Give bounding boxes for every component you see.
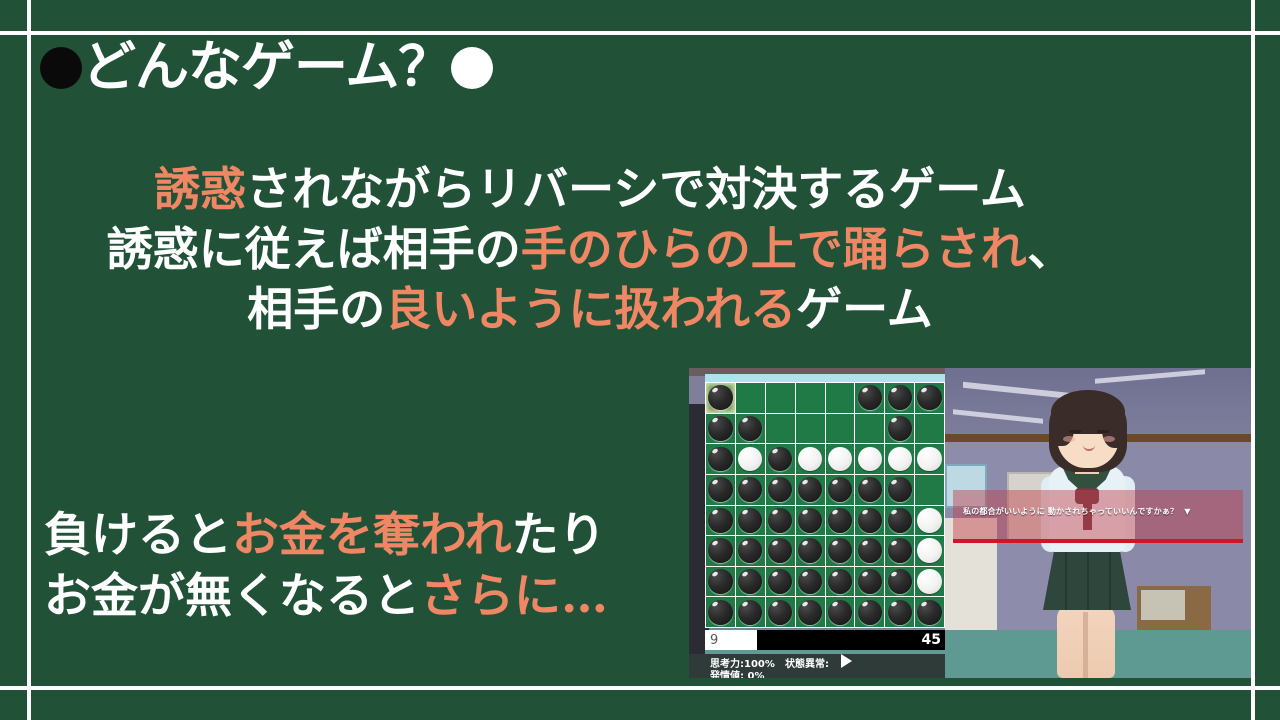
board-cell[interactable]	[706, 414, 735, 444]
black-disc	[708, 508, 732, 533]
character-leg-gap	[1083, 612, 1088, 678]
frame-line-bottom	[0, 686, 1280, 690]
disc-glint	[741, 540, 748, 547]
disc-glint	[771, 601, 778, 608]
main-line1-highlight: 誘惑	[154, 162, 246, 216]
character-blush-left	[1063, 436, 1075, 442]
penalty-line1-highlight: お金を奪われ	[232, 508, 512, 563]
black-disc	[828, 538, 852, 563]
disc-glint	[861, 540, 868, 547]
page-title: どんなゲーム？	[40, 38, 493, 95]
board-cell[interactable]	[885, 567, 914, 597]
board-cell[interactable]	[855, 536, 884, 566]
black-disc	[858, 538, 882, 563]
black-disc	[858, 600, 882, 625]
board-cell[interactable]	[766, 475, 795, 505]
penalty-line-2: お金が無くなるとさらに…	[44, 566, 608, 627]
disc-glint	[801, 478, 808, 485]
black-disc	[768, 538, 792, 563]
board-cell[interactable]	[826, 536, 855, 566]
black-disc	[858, 477, 882, 502]
disc-glint	[801, 601, 808, 608]
board-cell[interactable]	[826, 383, 855, 413]
board-cell[interactable]	[885, 536, 914, 566]
board-cell[interactable]	[706, 506, 735, 536]
main-line3-tail: ゲーム	[796, 282, 933, 336]
black-disc	[798, 600, 822, 625]
dialogue-advance-arrow-icon[interactable]: ▼	[1184, 507, 1190, 516]
disc-glint	[801, 540, 808, 547]
penalty-description: 負けるとお金を奪われたり お金が無くなるとさらに…	[44, 505, 608, 627]
character-eye-left	[1069, 430, 1081, 433]
main-line2-head: 誘惑に従えば相手の	[107, 222, 521, 276]
board-cell[interactable]	[885, 444, 914, 474]
disc-glint	[771, 478, 778, 485]
board-cell[interactable]	[766, 414, 795, 444]
board-cell[interactable]	[736, 567, 765, 597]
white-disc	[917, 447, 941, 472]
board-cell[interactable]	[915, 567, 944, 597]
dialogue-underline	[953, 539, 1243, 543]
disc-glint	[741, 601, 748, 608]
black-disc	[708, 385, 732, 410]
white-disc	[858, 447, 882, 472]
board-cell[interactable]	[766, 383, 795, 413]
black-disc	[708, 416, 732, 441]
main-line3-highlight: 良いように扱われる	[385, 282, 796, 336]
visual-novel-scene: 私の都合がいいように 動かされちゃっていいんですかぁ？▼	[945, 368, 1251, 678]
black-disc	[888, 600, 912, 625]
black-disc	[768, 600, 792, 625]
board-cell[interactable]	[855, 597, 884, 627]
board-cell[interactable]	[766, 506, 795, 536]
main-description: 誘惑されながらリバーシで対決するゲーム 誘惑に従えば相手の手のひらの上で踊らされ…	[0, 160, 1180, 339]
disc-glint	[891, 478, 898, 485]
black-disc	[888, 569, 912, 594]
black-disc	[888, 477, 912, 502]
disc-glint	[712, 540, 719, 547]
black-disc	[888, 385, 912, 410]
black-disc	[858, 508, 882, 533]
board-cell[interactable]	[796, 506, 825, 536]
black-disc	[738, 538, 762, 563]
character-eyebrow-right	[1097, 423, 1109, 425]
character-skirt-pleat	[1109, 544, 1111, 610]
disc-glint	[891, 387, 898, 394]
black-disc	[738, 569, 762, 594]
board-cell[interactable]	[915, 597, 944, 627]
board-cell[interactable]	[796, 597, 825, 627]
white-circle-icon	[451, 47, 493, 89]
disc-glint	[741, 417, 748, 424]
board-cell[interactable]	[736, 444, 765, 474]
board-cell[interactable]	[766, 567, 795, 597]
board-cell[interactable]	[826, 475, 855, 505]
board-cell[interactable]	[706, 597, 735, 627]
board-panel: 9 45 思考力:100% 発情値: 0% 状態異常:	[689, 368, 945, 678]
slide-root: どんなゲーム？ 誘惑されながらリバーシで対決するゲーム 誘惑に従えば相手の手のひ…	[0, 0, 1280, 720]
black-disc	[738, 600, 762, 625]
board-cell[interactable]	[706, 444, 735, 474]
black-disc	[828, 477, 852, 502]
black-disc	[828, 569, 852, 594]
disc-glint	[712, 387, 719, 394]
character-eye-right	[1097, 430, 1109, 433]
dialogue-text-line: 私の都合がいいように 動かされちゃっていいんですかぁ？▼	[963, 506, 1237, 517]
penalty-line2-highlight: さらに…	[420, 569, 608, 624]
board-cell[interactable]	[915, 506, 944, 536]
disc-glint	[861, 570, 868, 577]
board-cell[interactable]	[766, 597, 795, 627]
board-cell[interactable]	[855, 383, 884, 413]
disc-glint	[891, 601, 898, 608]
black-disc	[738, 508, 762, 533]
disc-glint	[712, 417, 719, 424]
frame-line-right	[1251, 0, 1255, 720]
board-cell[interactable]	[766, 444, 795, 474]
main-description-line-1: 誘惑されながらリバーシで対決するゲーム	[0, 160, 1180, 220]
cursor-triangle-icon	[841, 654, 852, 668]
board-cell[interactable]	[855, 475, 884, 505]
board-cell[interactable]	[736, 506, 765, 536]
board-cell[interactable]	[706, 475, 735, 505]
black-disc	[798, 538, 822, 563]
board-cell[interactable]	[796, 444, 825, 474]
penalty-line1-head: 負けると	[44, 508, 232, 563]
black-disc	[828, 508, 852, 533]
board-cell[interactable]	[885, 414, 914, 444]
black-disc	[888, 416, 912, 441]
page-title-text: どんなゲーム？	[82, 34, 451, 98]
disc-glint	[831, 540, 838, 547]
black-disc	[708, 538, 732, 563]
black-disc	[858, 569, 882, 594]
disc-glint	[831, 509, 838, 516]
board-cell[interactable]	[885, 597, 914, 627]
board-cell[interactable]	[826, 414, 855, 444]
disc-glint	[831, 478, 838, 485]
black-disc	[798, 569, 822, 594]
disc-glint	[771, 509, 778, 516]
disc-glint	[891, 417, 898, 424]
disc-glint	[891, 570, 898, 577]
white-disc	[888, 447, 912, 472]
main-line2-tail: 、	[1027, 222, 1073, 276]
character-skirt-pleat	[1087, 544, 1089, 610]
main-line3-head: 相手の	[247, 282, 385, 336]
disc-glint	[861, 509, 868, 516]
board-cell[interactable]	[855, 506, 884, 536]
black-disc	[708, 600, 732, 625]
main-line2-highlight: 手のひらの上で踊らされ	[521, 222, 1027, 276]
score-bar: 9 45	[705, 630, 945, 650]
board-cell[interactable]	[855, 567, 884, 597]
character-eyebrow-left	[1069, 423, 1081, 425]
disc-glint	[712, 601, 719, 608]
character-skirt-pleat	[1065, 544, 1067, 610]
disc-glint	[801, 509, 808, 516]
board-cell[interactable]	[736, 536, 765, 566]
board-top-bar	[705, 374, 945, 382]
disc-glint	[891, 540, 898, 547]
black-disc	[768, 569, 792, 594]
disc-glint	[861, 387, 868, 394]
white-disc	[917, 508, 941, 533]
board-cell[interactable]	[915, 536, 944, 566]
board-cell[interactable]	[885, 506, 914, 536]
penalty-line2-head: お金が無くなると	[44, 569, 420, 624]
board-cell[interactable]	[826, 597, 855, 627]
disc-glint	[891, 509, 898, 516]
board-cell[interactable]	[885, 475, 914, 505]
board-cell[interactable]	[796, 414, 825, 444]
disc-glint	[831, 570, 838, 577]
black-disc	[828, 600, 852, 625]
board-cell[interactable]	[796, 383, 825, 413]
black-disc	[888, 538, 912, 563]
main-line1-rest: されながらリバーシで対決するゲーム	[246, 162, 1026, 216]
disc-glint	[861, 601, 868, 608]
disc-glint	[921, 601, 928, 608]
board-cell[interactable]	[796, 536, 825, 566]
black-disc	[917, 600, 941, 625]
board-cell[interactable]	[796, 567, 825, 597]
board-cell[interactable]	[736, 414, 765, 444]
board-cell[interactable]	[706, 536, 735, 566]
main-description-line-3: 相手の良いように扱われるゲーム	[0, 280, 1180, 340]
board-cell[interactable]	[736, 597, 765, 627]
black-disc	[738, 477, 762, 502]
dialogue-text: 私の都合がいいように 動かされちゃっていいんですかぁ？	[963, 507, 1178, 516]
black-disc	[798, 508, 822, 533]
disc-glint	[861, 478, 868, 485]
board-cell[interactable]	[826, 506, 855, 536]
black-disc	[708, 447, 732, 472]
board-cell[interactable]	[826, 444, 855, 474]
disc-glint	[831, 601, 838, 608]
board-cell[interactable]	[736, 383, 765, 413]
white-disc	[798, 447, 822, 472]
board-cell[interactable]	[826, 567, 855, 597]
black-disc	[768, 447, 792, 472]
black-disc	[888, 508, 912, 533]
board-cell[interactable]	[915, 475, 944, 505]
arousal-value-label: 発情値: 0%	[710, 667, 764, 678]
penalty-line-1: 負けるとお金を奪われたり	[44, 505, 608, 566]
board-cell[interactable]	[885, 383, 914, 413]
disc-glint	[712, 570, 719, 577]
board-cell[interactable]	[915, 444, 944, 474]
character-blush-right	[1103, 436, 1115, 442]
white-disc	[917, 538, 941, 563]
white-disc	[738, 447, 762, 472]
black-disc	[708, 569, 732, 594]
board-cell[interactable]	[706, 383, 735, 413]
board-cell[interactable]	[706, 567, 735, 597]
black-disc	[768, 508, 792, 533]
black-disc	[708, 477, 732, 502]
disc-glint	[801, 570, 808, 577]
disc-glint	[712, 448, 719, 455]
disc-glint	[771, 448, 778, 455]
black-disc	[768, 477, 792, 502]
disc-glint	[712, 478, 719, 485]
board-cell[interactable]	[855, 444, 884, 474]
board-cell[interactable]	[796, 475, 825, 505]
frame-line-left	[27, 0, 31, 720]
penalty-line1-tail: たり	[512, 508, 606, 563]
board-cell[interactable]	[766, 536, 795, 566]
white-disc	[828, 447, 852, 472]
board-cell[interactable]	[855, 414, 884, 444]
player-score: 9	[705, 630, 757, 650]
white-disc	[917, 569, 941, 594]
disc-glint	[712, 509, 719, 516]
game-screenshot: 9 45 思考力:100% 発情値: 0% 状態異常:	[689, 368, 1251, 678]
black-disc	[738, 416, 762, 441]
disc-glint	[921, 387, 928, 394]
main-description-line-2: 誘惑に従えば相手の手のひらの上で踊らされ、	[0, 220, 1180, 280]
black-circle-icon	[40, 47, 82, 89]
black-disc	[858, 385, 882, 410]
black-disc	[798, 477, 822, 502]
disc-glint	[741, 478, 748, 485]
opponent-score: 45	[757, 632, 945, 648]
reversi-board[interactable]	[705, 382, 945, 628]
disc-glint	[771, 570, 778, 577]
board-cell[interactable]	[915, 383, 944, 413]
board-cell[interactable]	[736, 475, 765, 505]
black-disc	[917, 385, 941, 410]
scene-crate-lid	[1141, 590, 1185, 620]
ailment-label: 状態異常:	[785, 655, 829, 670]
disc-glint	[741, 570, 748, 577]
board-cell[interactable]	[915, 414, 944, 444]
disc-glint	[741, 509, 748, 516]
disc-glint	[771, 540, 778, 547]
